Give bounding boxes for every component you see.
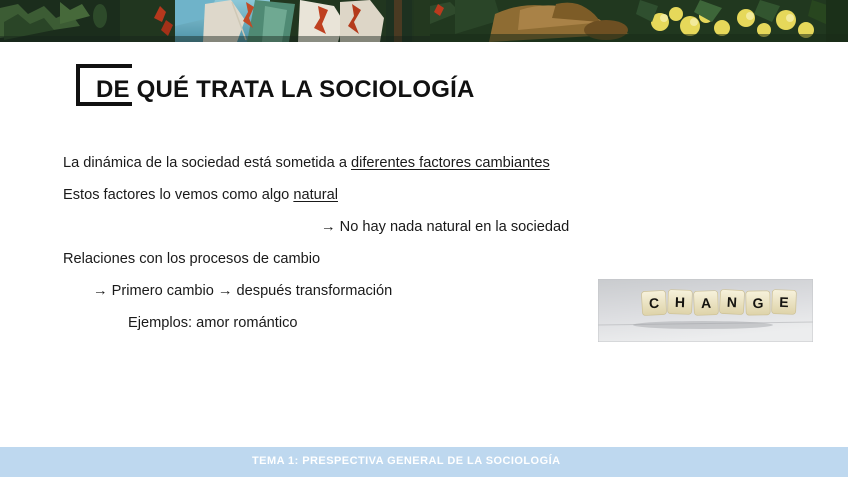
body-line-1-segment-2-underlined: diferentes factores cambiantes	[351, 155, 550, 171]
header-banner-image	[0, 0, 848, 42]
banner-artwork	[0, 0, 848, 42]
footer-label: TEMA 1: PRESPECTIVA GENERAL DE LA SOCIOL…	[252, 455, 560, 467]
die-letter-6: E	[779, 294, 789, 310]
page-title: DE QUÉ TRATA LA SOCIOLOGÍA	[96, 76, 475, 104]
body-line-6: Ejemplos: amor romántico	[128, 315, 298, 333]
die-letter-1: C	[649, 295, 660, 312]
body-line-4: Relaciones con los procesos de cambio	[63, 251, 320, 269]
body-line-5-segment-1: → Primero cambio → después transformació…	[93, 283, 392, 299]
footer-bar: TEMA 1: PRESPECTIVA GENERAL DE LA SOCIOL…	[0, 447, 848, 477]
body-line-3: → No hay nada natural en la sociedad	[321, 219, 569, 237]
body-line-1: La dinámica de la sociedad está sometida…	[63, 155, 550, 173]
die-letter-3: A	[701, 295, 712, 311]
die-letter-2: H	[675, 294, 686, 310]
body-line-4-segment-1: Relaciones con los procesos de cambio	[63, 251, 320, 267]
die-letter-4: N	[727, 294, 738, 311]
body-line-2: Estos factores lo vemos como algo natura…	[63, 187, 338, 205]
slide: DE QUÉ TRATA LA SOCIOLOGÍA La dinámica d…	[0, 0, 848, 477]
body-line-5: → Primero cambio → después transformació…	[93, 283, 392, 301]
body-line-2-segment-1: Estos factores lo vemos como algo	[63, 187, 293, 203]
change-dice-photo: C H A N G	[598, 279, 813, 342]
slide-title-block: DE QUÉ TRATA LA SOCIOLOGÍA	[63, 60, 583, 116]
die-letter-5: G	[752, 295, 763, 311]
body-line-1-segment-1: La dinámica de la sociedad está sometida…	[63, 155, 351, 171]
body-line-3-segment-1: → No hay nada natural en la sociedad	[321, 219, 569, 235]
change-dice-artwork: C H A N G	[598, 279, 813, 342]
body-line-2-segment-2-underlined: natural	[293, 187, 338, 203]
body-line-6-segment-1: Ejemplos: amor romántico	[128, 315, 298, 331]
